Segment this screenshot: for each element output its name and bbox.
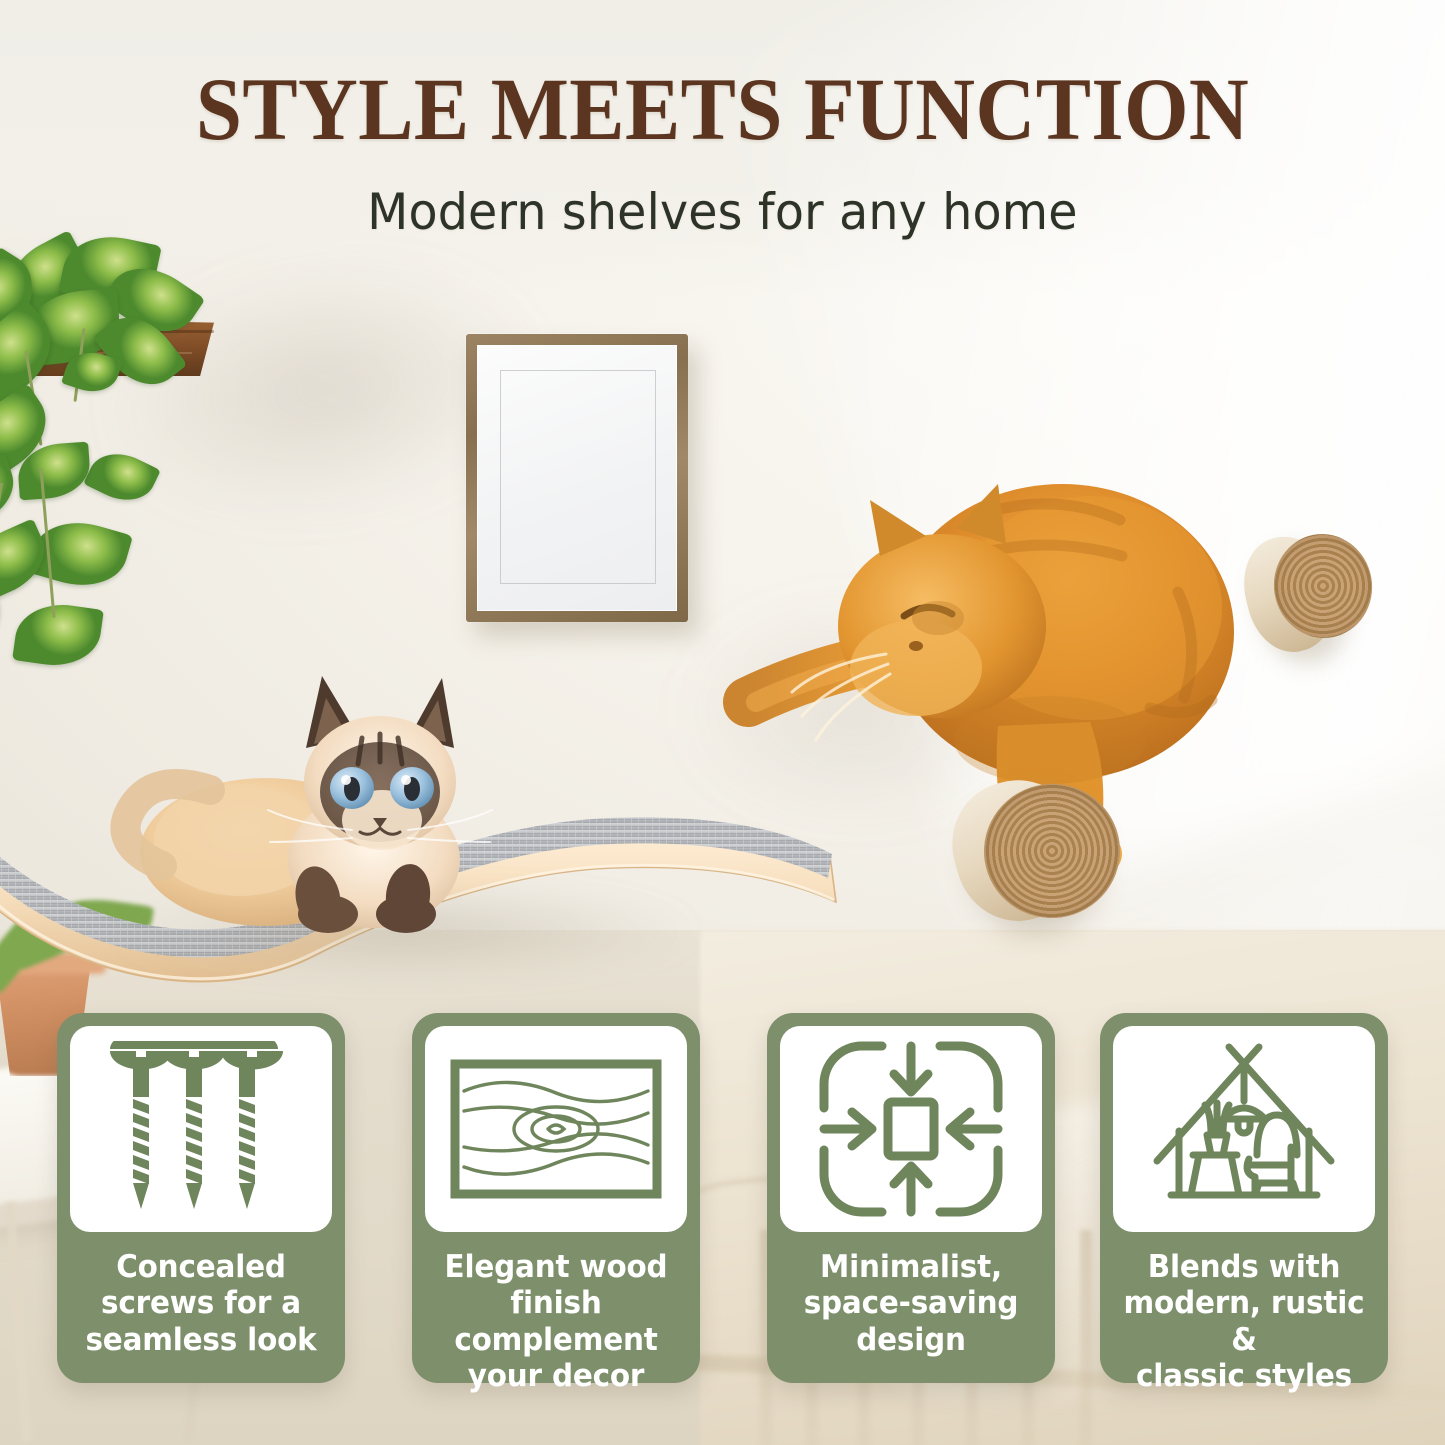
feature-card-label: Concealed screws for a seamless look bbox=[69, 1249, 333, 1358]
product-marketing-image: STYLE MEETS FUNCTION Modern shelves for … bbox=[0, 0, 1445, 1445]
feature-icon-panel bbox=[780, 1026, 1042, 1232]
feature-card-space-saving[interactable]: Minimalist, space-saving design bbox=[767, 1013, 1055, 1383]
feature-card-wood-finish[interactable]: Elegant wood finish complement your deco… bbox=[412, 1013, 700, 1383]
compress-arrows-icon bbox=[816, 1038, 1006, 1220]
feature-icon-panel bbox=[70, 1026, 332, 1232]
feature-card-label: Minimalist, space-saving design bbox=[779, 1249, 1043, 1358]
feature-cards-row: Concealed screws for a seamless look bbox=[0, 0, 1445, 1445]
feature-card-label: Blends with modern, rustic & classic sty… bbox=[1112, 1249, 1376, 1394]
feature-card-style-blend[interactable]: Blends with modern, rustic & classic sty… bbox=[1100, 1013, 1388, 1383]
house-interior-icon bbox=[1141, 1043, 1347, 1215]
wood-grain-icon bbox=[450, 1059, 662, 1199]
screws-icon bbox=[96, 1041, 306, 1217]
feature-icon-panel bbox=[425, 1026, 687, 1232]
feature-card-label: Elegant wood finish complement your deco… bbox=[424, 1249, 688, 1394]
feature-card-concealed-screws[interactable]: Concealed screws for a seamless look bbox=[57, 1013, 345, 1383]
feature-icon-panel bbox=[1113, 1026, 1375, 1232]
